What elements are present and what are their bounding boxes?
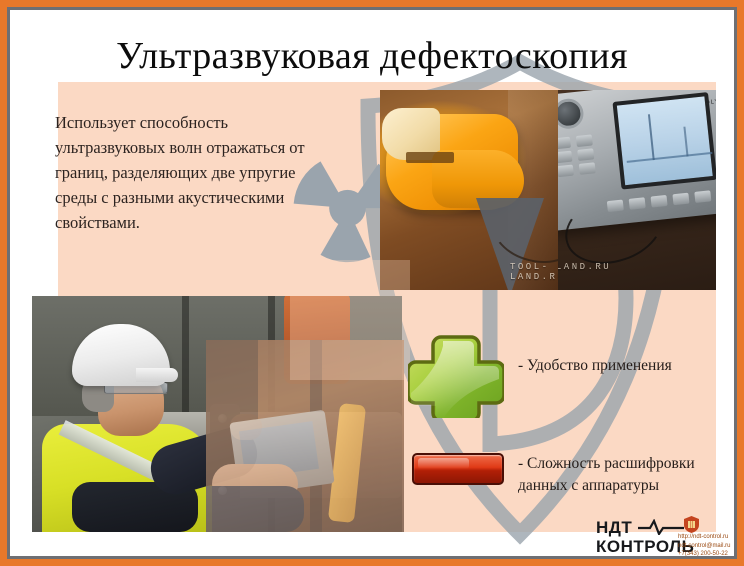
hard-hat-brim [136, 368, 178, 382]
minus-icon [412, 453, 504, 485]
detector-screen: OLYMPUS [612, 92, 716, 190]
olympus-brand-label: OLYMPUS [705, 97, 716, 107]
page-title: Ультразвуковая дефектоскопия [10, 34, 734, 78]
detector-dial [558, 97, 585, 130]
detector-key [576, 134, 593, 147]
slide-canvas: TOOL-LAND.RU OLYMPUS [10, 10, 734, 556]
inspector-detector-photo [206, 340, 404, 532]
company-logo[interactable]: НДТ КОНТРОЛЬ http://ndt-control.ru ndt-c… [596, 518, 728, 556]
detector-key [558, 137, 571, 150]
detector-softkey [672, 193, 689, 206]
detector-softkey [694, 190, 711, 203]
logo-contacts: http://ndt-control.ru ndt-control@mail.r… [678, 533, 734, 556]
waveform-peak [648, 114, 655, 160]
contact-phone: +7(343) 200-50-22 [678, 550, 734, 556]
glove-tag [406, 152, 454, 163]
crest-shield-icon [684, 516, 699, 533]
tool-land-watermark: TOOL-LAND.RU [510, 262, 558, 282]
tool-land-watermark-partial: -LAND.RU [558, 262, 611, 272]
olympus-detector-photo: OLYMPUS -LAND.RU [558, 90, 716, 290]
glove-tool-photo: TOOL-LAND.RU [380, 90, 558, 290]
yellow-instrument [328, 403, 366, 523]
inspector-arm [206, 486, 304, 532]
waveform-peak [683, 127, 688, 157]
bullet-advantage: - Удобство применения [518, 355, 718, 377]
detector-key [579, 162, 596, 175]
waveform-trace [627, 152, 713, 163]
contact-website[interactable]: http://ndt-control.ru [678, 533, 734, 542]
detector-key [558, 165, 574, 178]
body-paragraph: Использует способность ультразвуковых во… [55, 110, 305, 235]
detector-key [558, 151, 572, 164]
plus-icon [408, 332, 504, 418]
presentation-slide: TOOL-LAND.RU OLYMPUS [0, 0, 744, 566]
logo-line-ndt: НДТ [596, 518, 632, 538]
detector-key [577, 148, 594, 161]
bullet-disadvantage: - Сложность расшифровки данных с аппарат… [518, 453, 714, 497]
contact-email[interactable]: ndt-control@mail.ru [678, 542, 734, 551]
